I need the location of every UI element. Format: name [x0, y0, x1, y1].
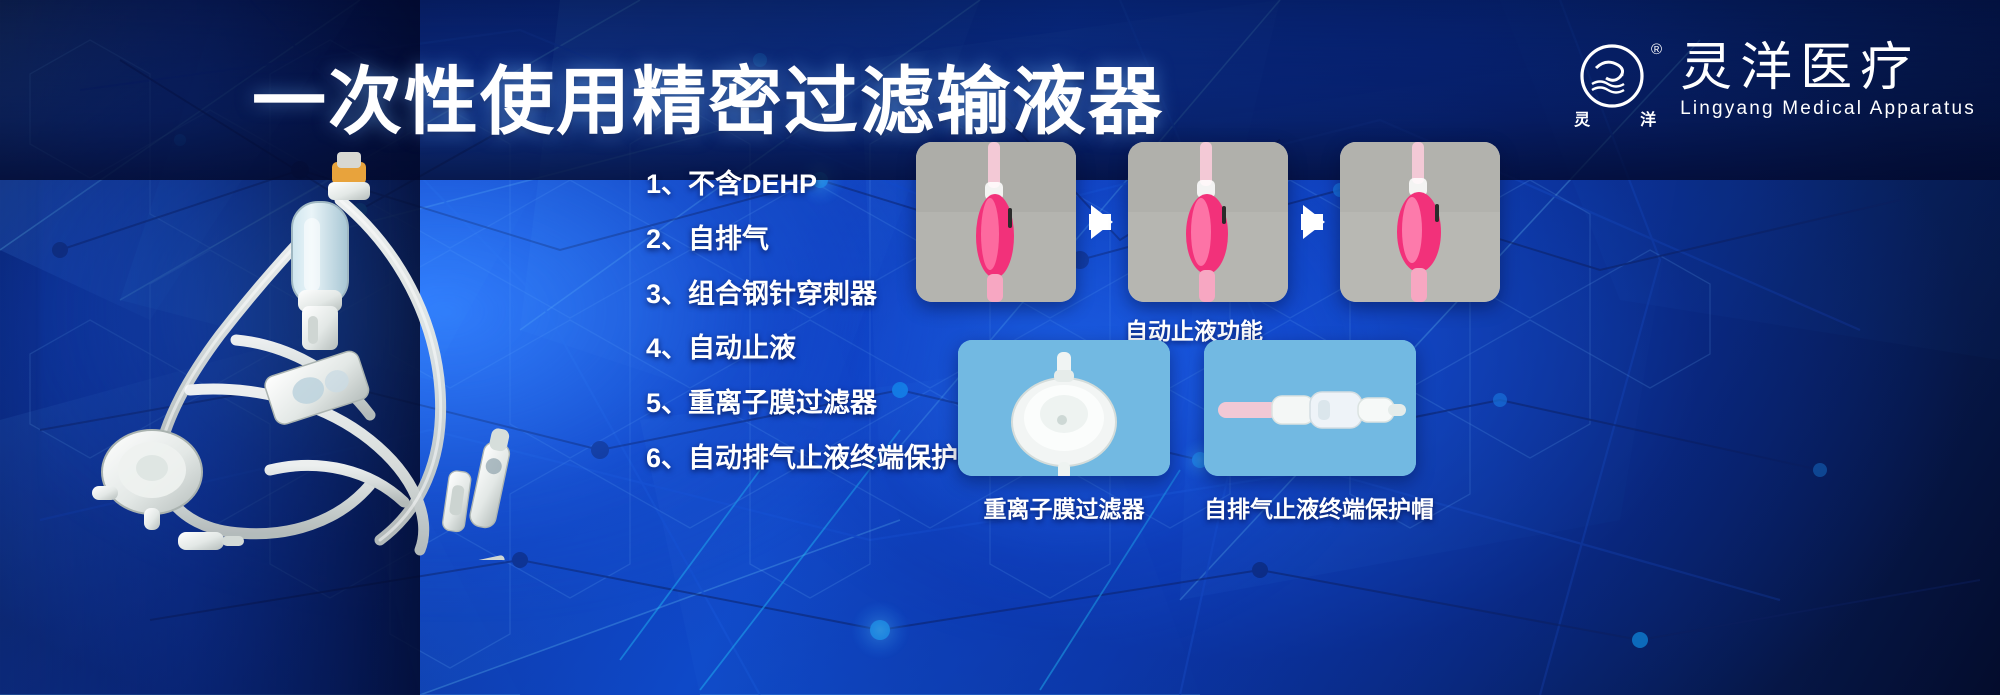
emblem-char-left: 灵 [1574, 106, 1590, 130]
cap-caption: 自排气止液终端保护帽 [1204, 490, 1416, 524]
auto-stop-sequence [916, 142, 1500, 302]
drip-chamber-photo-2 [1128, 142, 1288, 302]
registered-mark: ® [1651, 42, 1662, 57]
detail-panels [958, 340, 1416, 476]
circular-wave-emblem-icon: ® 灵 洋 [1572, 38, 1658, 124]
feature-item-5: 5、重离子膜过滤器 [646, 387, 976, 421]
drip-chamber-photo-3 [1340, 142, 1500, 302]
right-arrow-icon [1076, 142, 1128, 302]
product-banner: 一次性使用精密过滤输液器 ® 灵 洋 灵洋医疗 Lingyang Medical… [0, 0, 2000, 695]
page-title: 一次性使用精密过滤输液器 [252, 42, 1164, 149]
emblem-char-right: 洋 [1640, 106, 1656, 130]
filter-caption: 重离子膜过滤器 [958, 490, 1170, 524]
feature-item-6: 6、自动排气止液终端保护帽 [646, 442, 976, 476]
heavy-ion-membrane-filter-photo [958, 340, 1170, 476]
terminal-protective-cap-photo [1204, 340, 1416, 476]
brand-name-cn: 灵洋医疗 [1680, 42, 1976, 97]
hero-product-photo [40, 140, 680, 560]
detail-panel-captions: 重离子膜过滤器 自排气止液终端保护帽 [958, 490, 1416, 524]
brand-name-en: Lingyang Medical Apparatus [1680, 99, 1976, 120]
drip-chamber-photo-1 [916, 142, 1076, 302]
brand-logo: ® 灵 洋 灵洋医疗 Lingyang Medical Apparatus [1572, 38, 1976, 124]
right-arrow-icon-2 [1288, 142, 1340, 302]
